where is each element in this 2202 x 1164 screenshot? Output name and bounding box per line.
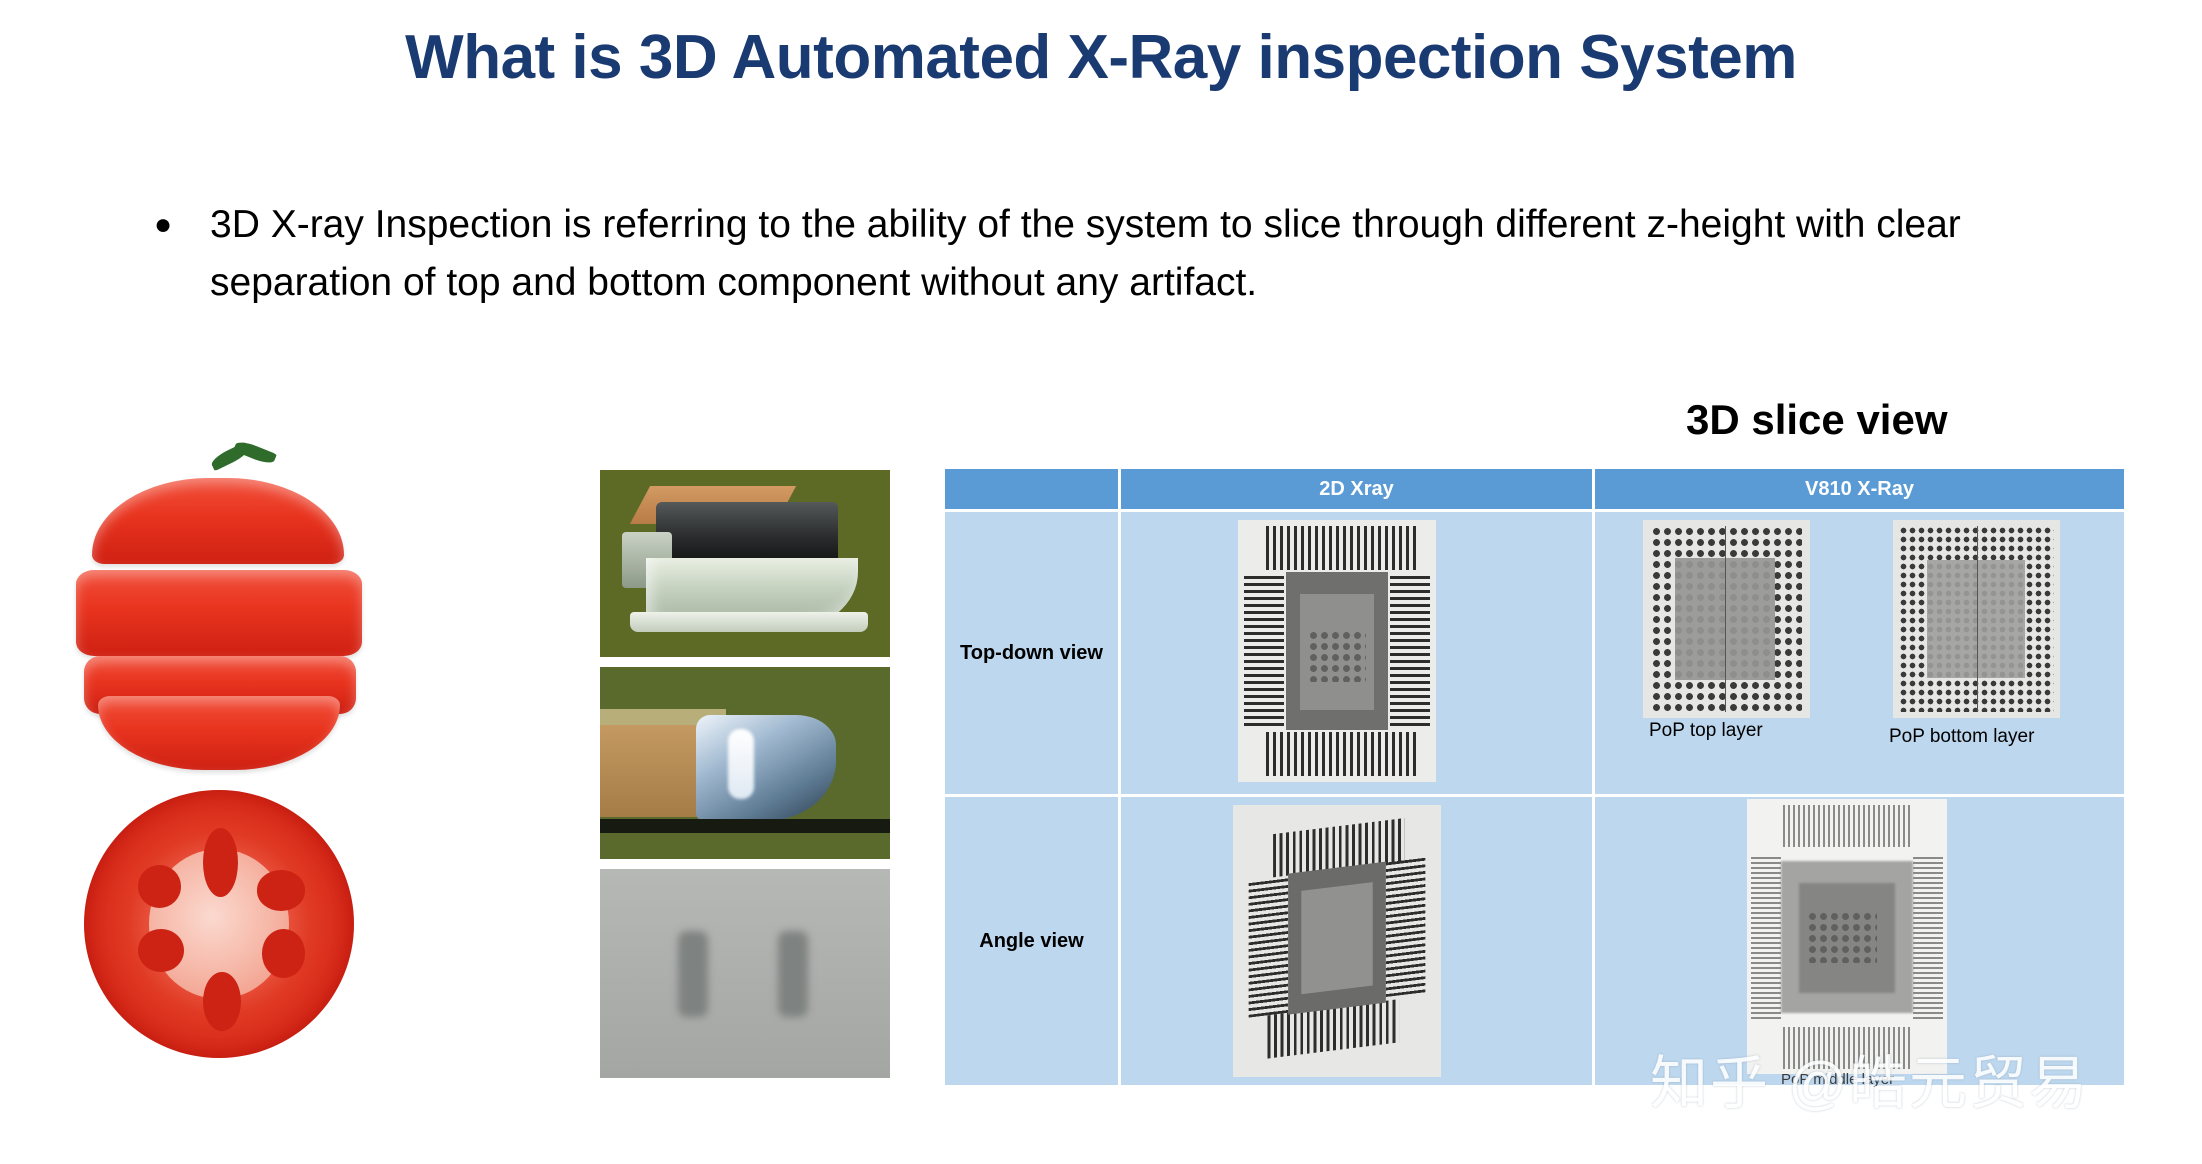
lead-bank-right: [1386, 855, 1425, 997]
tomato-locule: [203, 972, 241, 1031]
bullet-point-icon: ●: [150, 196, 210, 254]
table-row: Top-down view PoP top layer: [945, 509, 2127, 794]
slice-centerline: [1977, 526, 1978, 712]
xray-termination-left: [678, 931, 708, 1017]
slice-view-heading: 3D slice view: [1686, 396, 1948, 444]
cell-2d-topdown: [1121, 512, 1595, 794]
table-row-label-angle-view: Angle view: [945, 797, 1121, 1085]
caption-pop-top-layer: PoP top layer: [1649, 720, 1763, 742]
lead-bank-left: [1751, 855, 1781, 1019]
page-title: What is 3D Automated X-Ray inspection Sy…: [0, 22, 2202, 93]
solder-base: [630, 612, 868, 632]
table-header-corner: [945, 469, 1121, 509]
via-grid: [1807, 911, 1877, 963]
tomato-cross-section-body: [84, 790, 354, 1058]
lead-bank-bottom: [1266, 732, 1416, 776]
solder-joint-3d-render-image: [600, 470, 890, 657]
table-header-row: 2D Xray V810 X-Ray: [945, 469, 2127, 509]
table-header-v810-xray: V810 X-Ray: [1595, 469, 2124, 509]
via-grid: [1308, 630, 1366, 682]
tomato-locule: [138, 865, 181, 908]
die-shadow: [1927, 560, 2025, 678]
lead-bank-left: [1244, 576, 1284, 726]
tomato-locule: [257, 870, 306, 910]
caption-pop-bottom-layer: PoP bottom layer: [1889, 726, 2034, 748]
lead-bank-top: [1783, 805, 1911, 847]
xray-2d-topdown-image: [1238, 520, 1436, 782]
sliced-tomato-figure: [48, 438, 388, 1144]
lead-bank-right: [1390, 576, 1430, 726]
component-ceramic: [600, 725, 708, 817]
tomato-cross-section-image: [84, 790, 354, 1058]
xray-v810-pop-bottom-layer-image: [1893, 520, 2060, 718]
xray-termination-right: [778, 931, 808, 1017]
lead-bank-right: [1913, 855, 1943, 1019]
comparison-table: 2D Xray V810 X-Ray Top-down view PoP top: [945, 469, 2127, 1085]
pcb-shadow: [600, 819, 890, 833]
tomato-locule: [138, 929, 184, 972]
tomato-slice-bottom: [98, 696, 340, 770]
tomato-sliced-stack-image: [58, 438, 378, 768]
solder-joint-xray-grayscale-image: [600, 869, 890, 1078]
watermark: 知乎 @皓元贸易: [1650, 1036, 2089, 1120]
table-row-label-top-down-view: Top-down view: [945, 512, 1121, 794]
slice-centerline: [1725, 526, 1726, 712]
tomato-slice-middle: [76, 570, 362, 656]
solder-mass: [696, 715, 836, 821]
cell-2d-angle: [1121, 797, 1595, 1085]
bullet-text: 3D X-ray Inspection is referring to the …: [210, 196, 1990, 312]
tomato-slice-top: [92, 478, 344, 564]
bullet-list: ● 3D X-ray Inspection is referring to th…: [150, 196, 2030, 312]
tomato-locule: [203, 828, 238, 898]
tomato-locule: [262, 929, 305, 977]
list-item: ● 3D X-ray Inspection is referring to th…: [150, 196, 2030, 312]
solder-photo-stack: [600, 470, 890, 1078]
solder-joint-macro-photo-image: [600, 667, 890, 859]
xray-v810-pop-top-layer-image: [1643, 520, 1810, 718]
lead-bank-left: [1249, 876, 1288, 1018]
xray-v810-pop-middle-layer-image: [1747, 799, 1947, 1074]
die-paddle: [1301, 882, 1372, 994]
cell-v810-topdown: PoP top layer PoP bottom layer: [1595, 512, 2124, 794]
xray-2d-angle-image: [1233, 805, 1441, 1077]
component-body: [656, 502, 838, 564]
solder-highlight: [728, 729, 754, 799]
lead-bank-top: [1266, 526, 1416, 570]
xray-background: [600, 869, 890, 1078]
table-header-2d-xray: 2D Xray: [1121, 469, 1595, 509]
